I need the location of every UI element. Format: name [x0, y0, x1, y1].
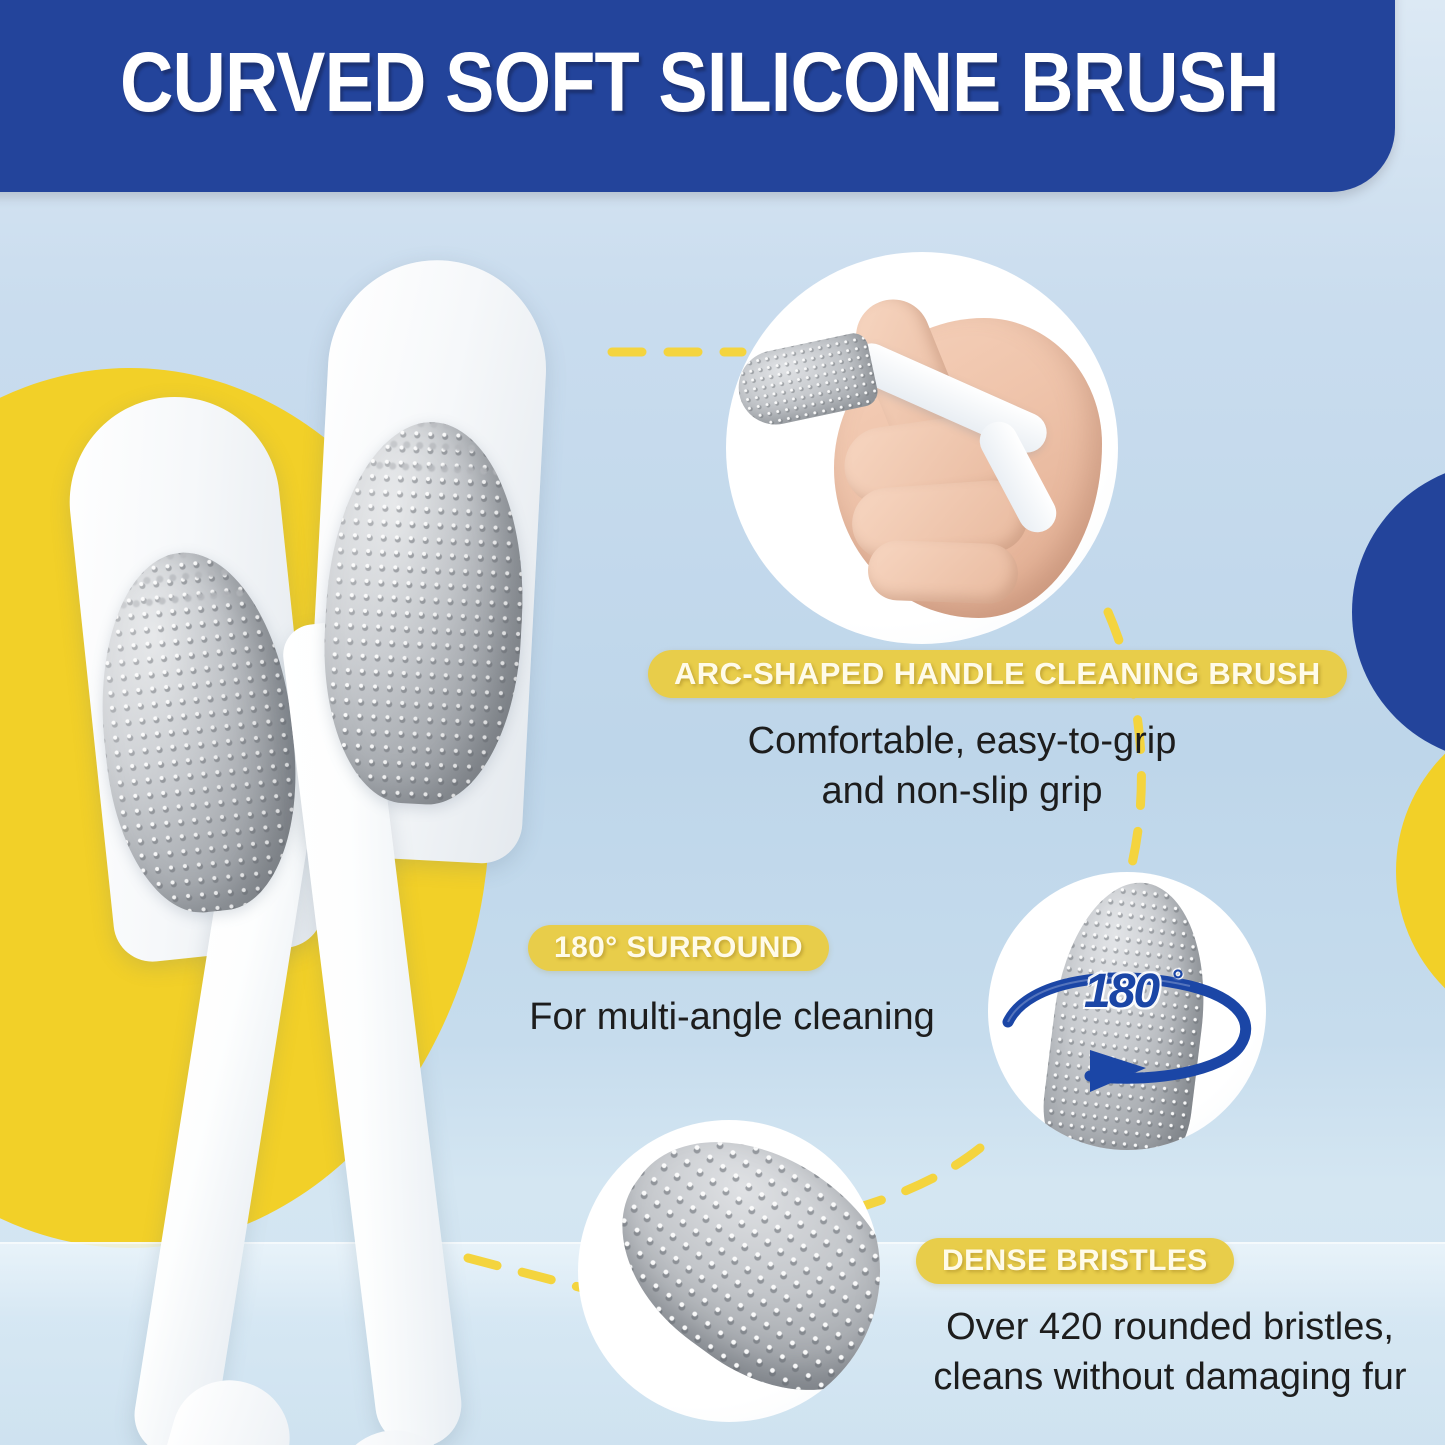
bristle-closeup	[580, 1120, 880, 1422]
feature-badge-arc-handle: ARC-SHAPED HANDLE CLEANING BRUSH	[648, 650, 1347, 698]
degree-value: 180	[1084, 964, 1158, 1019]
feature-description-arc-handle: Comfortable, easy-to-grip and non-slip g…	[652, 716, 1272, 816]
feature-badge-180-surround: 180° SURROUND	[528, 925, 829, 971]
feature-photo-180-surround: 180 °	[988, 872, 1266, 1150]
pinky-finger	[867, 539, 1019, 604]
product-photo-main	[0, 200, 620, 1445]
page-title: CURVED SOFT SILICONE BRUSH	[120, 40, 1202, 124]
yellow-circle-right	[1396, 706, 1445, 1036]
degree-symbol: °	[1172, 964, 1184, 998]
blue-circle-right	[1352, 462, 1445, 762]
brush-right-bristle-head	[316, 417, 532, 809]
brush-left-bristle-head	[86, 543, 311, 921]
feature-description-180-surround: For multi-angle cleaning	[512, 992, 952, 1042]
header-banner: CURVED SOFT SILICONE BRUSH	[0, 0, 1395, 192]
feature-photo-dense-bristles	[578, 1120, 880, 1422]
feature-photo-arc-handle	[726, 252, 1118, 644]
infographic-canvas: CURVED SOFT SILICONE BRUSH	[0, 0, 1445, 1445]
feature-description-dense-bristles: Over 420 rounded bristles, cleans withou…	[890, 1302, 1445, 1402]
feature-badge-dense-bristles: DENSE BRISTLES	[916, 1238, 1234, 1284]
